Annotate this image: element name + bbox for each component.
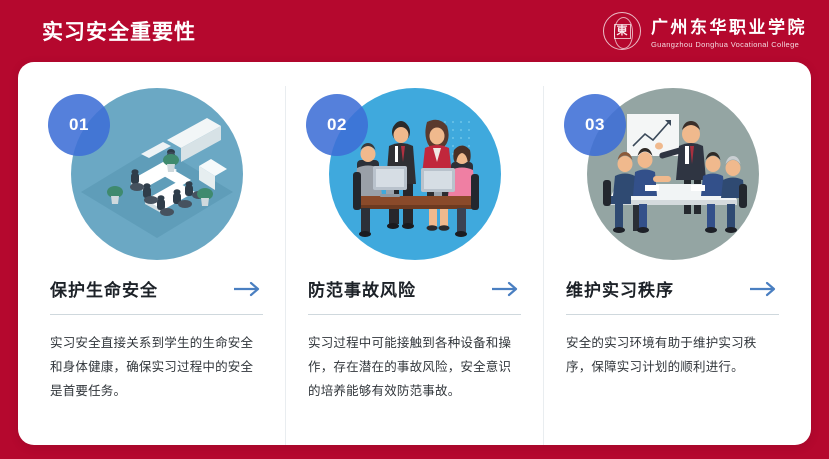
brand-text: 广州东华职业学院 Guangzhou Donghua Vocational Co… (651, 13, 807, 49)
card-title-02: 防范事故风险 (308, 276, 416, 301)
card-body-02: 实习过程中可能接触到各种设备和操作，存在潜在的事故风险，安全意识的培养能够有效防… (308, 331, 521, 403)
card-number-badge-01: 01 (48, 94, 110, 156)
card-number-badge-02: 02 (306, 94, 368, 156)
card-divider-03 (566, 314, 779, 315)
illustration-wrapper-01: 01 (46, 86, 267, 262)
card-head-row-02: 防范事故风险 (304, 276, 525, 301)
card-01: 01 (28, 86, 285, 445)
seal-icon: 東 (603, 12, 641, 50)
arrow-right-icon[interactable] (749, 281, 779, 297)
card-divider-02 (308, 314, 521, 315)
content-panel: 01 (18, 62, 811, 445)
page-title: 实习安全重要性 (42, 16, 196, 46)
page-header: 实习安全重要性 東 广州东华职业学院 Guangzhou Donghua Voc… (0, 0, 829, 62)
brand-name-cn: 广州东华职业学院 (651, 13, 807, 38)
card-number-badge-03: 03 (564, 94, 626, 156)
card-head-row-03: 维护实习秩序 (562, 276, 783, 301)
illustration-wrapper-03: 03 (562, 86, 783, 262)
seal-glyph: 東 (614, 24, 631, 39)
card-02: 02 (285, 86, 543, 445)
card-title-03: 维护实习秩序 (566, 276, 674, 301)
arrow-right-icon[interactable] (491, 281, 521, 297)
card-divider-01 (50, 314, 263, 315)
card-title-01: 保护生命安全 (50, 276, 158, 301)
college-logo: 東 广州东华职业学院 Guangzhou Donghua Vocational … (603, 12, 807, 50)
card-03: 03 (543, 86, 801, 445)
arrow-right-icon[interactable] (233, 281, 263, 297)
card-body-03: 安全的实习环境有助于维护实习秩序，保障实习计划的顺利进行。 (566, 331, 779, 379)
illustration-wrapper-02: 02 (304, 86, 525, 262)
card-body-01: 实习安全直接关系到学生的生命安全和身体健康，确保实习过程中的安全是首要任务。 (50, 331, 263, 403)
brand-name-en: Guangzhou Donghua Vocational College (651, 40, 799, 49)
card-head-row-01: 保护生命安全 (46, 276, 267, 301)
